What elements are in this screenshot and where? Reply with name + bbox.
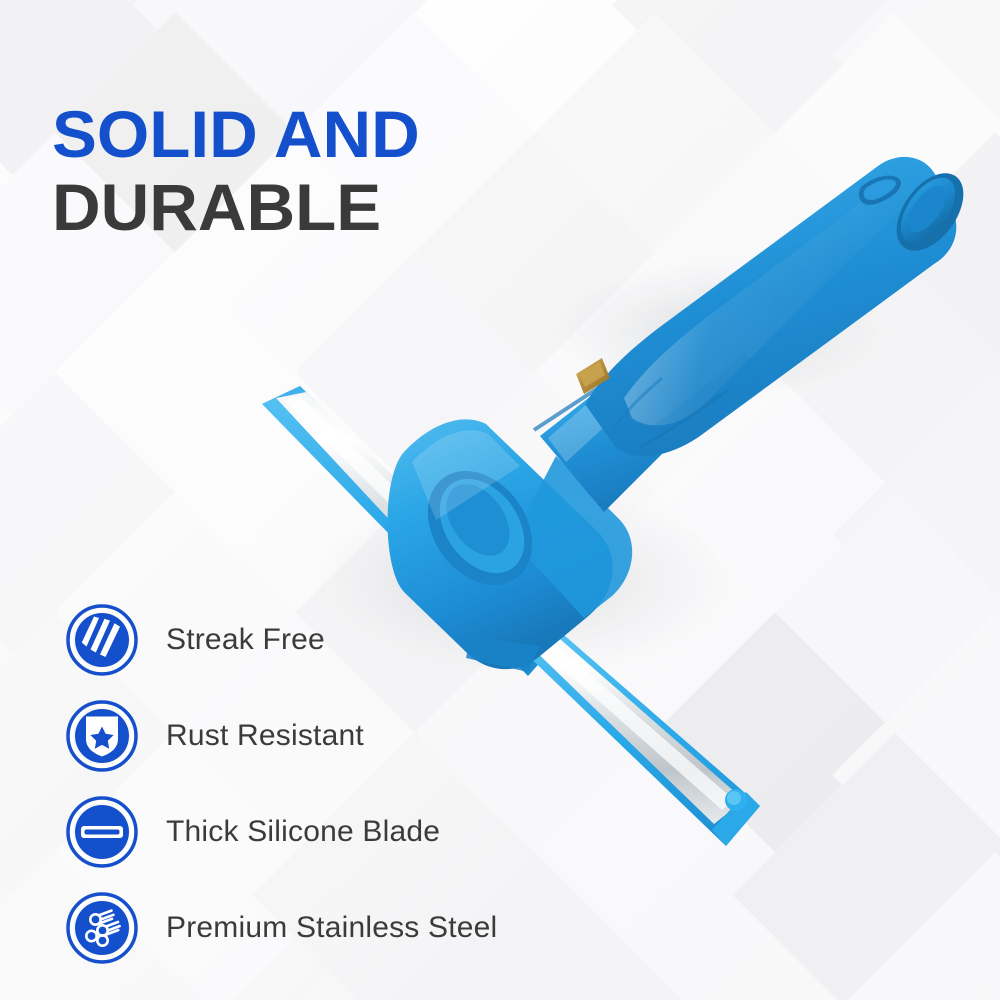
feature-list: Streak Free Rust Resistant bbox=[66, 592, 626, 976]
feature-item-rust-resistant[interactable]: Rust Resistant bbox=[66, 688, 626, 784]
headline: SOLID AND DURABLE bbox=[52, 104, 413, 237]
feature-label-thick-silicone-blade: Thick Silicone Blade bbox=[166, 815, 440, 849]
feature-label-rust-resistant: Rust Resistant bbox=[166, 719, 364, 753]
streak-lines-icon bbox=[66, 604, 138, 676]
horizontal-bar-icon bbox=[66, 796, 138, 868]
shield-star-icon bbox=[66, 700, 138, 772]
feature-item-premium-stainless-steel[interactable]: Premium Stainless Steel bbox=[66, 880, 626, 976]
headline-line-1: SOLID AND bbox=[52, 104, 420, 165]
headline-line-2: DURABLE bbox=[52, 177, 420, 238]
feature-label-premium-stainless-steel: Premium Stainless Steel bbox=[166, 911, 497, 945]
infographic-canvas: SOLID AND DURABLE bbox=[0, 0, 1000, 1000]
feature-item-streak-free[interactable]: Streak Free bbox=[66, 592, 626, 688]
feature-item-thick-silicone-blade[interactable]: Thick Silicone Blade bbox=[66, 784, 626, 880]
feature-label-streak-free: Streak Free bbox=[166, 623, 325, 657]
steel-tubes-bundle-icon bbox=[66, 892, 138, 964]
